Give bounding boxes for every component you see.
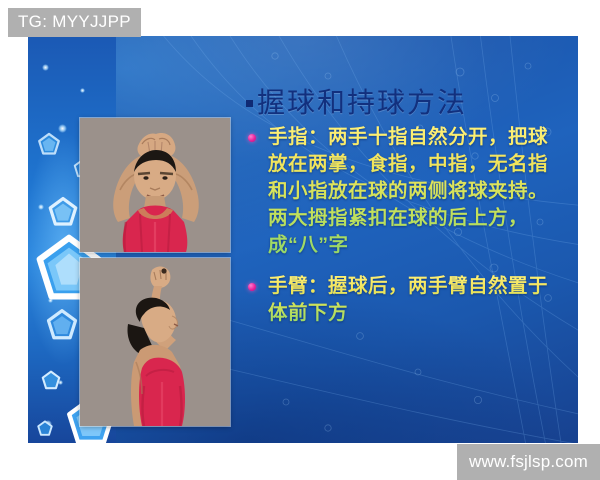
square-bullet-icon (246, 100, 253, 107)
bullet-text: 手臂：握球后，两手臂自然置于体前下方 (268, 273, 564, 327)
pink-dot-icon (248, 283, 256, 291)
slide-title-text: 握球和持球方法 (257, 87, 467, 118)
bullet-list: 手指：两手十指自然分开，把球放在两掌，食指，中指，无名指和小指放在球的两侧将球夹… (246, 124, 564, 341)
slide-title: 握球和持球方法 (246, 86, 566, 120)
bullet-item: 手臂：握球后，两手臂自然置于体前下方 (246, 273, 564, 327)
watermark-overlay: www.fsjlsp.com (457, 444, 600, 480)
presentation-slide: 握球和持球方法 手指：两手十指自然分开，把球放在两掌，食指，中指，无名指和小指放… (28, 36, 578, 443)
photo-athlete-front-overhead-grip (80, 118, 230, 252)
gem-star-icon (46, 196, 80, 230)
gem-star-icon (40, 370, 62, 392)
bullet-text: 手指：两手十指自然分开，把球放在两掌，食指，中指，无名指和小指放在球的两侧将球夹… (268, 124, 564, 259)
gem-star-icon (44, 308, 80, 344)
photo-athlete-side-arm-raised (80, 258, 230, 426)
gem-star-icon (36, 420, 54, 438)
pink-dot-icon (248, 134, 256, 142)
gem-star-icon (36, 132, 62, 158)
bullet-item: 手指：两手十指自然分开，把球放在两掌，食指，中指，无名指和小指放在球的两侧将球夹… (246, 124, 564, 259)
tg-tag-overlay: TG: MYYJJPP (8, 8, 141, 37)
